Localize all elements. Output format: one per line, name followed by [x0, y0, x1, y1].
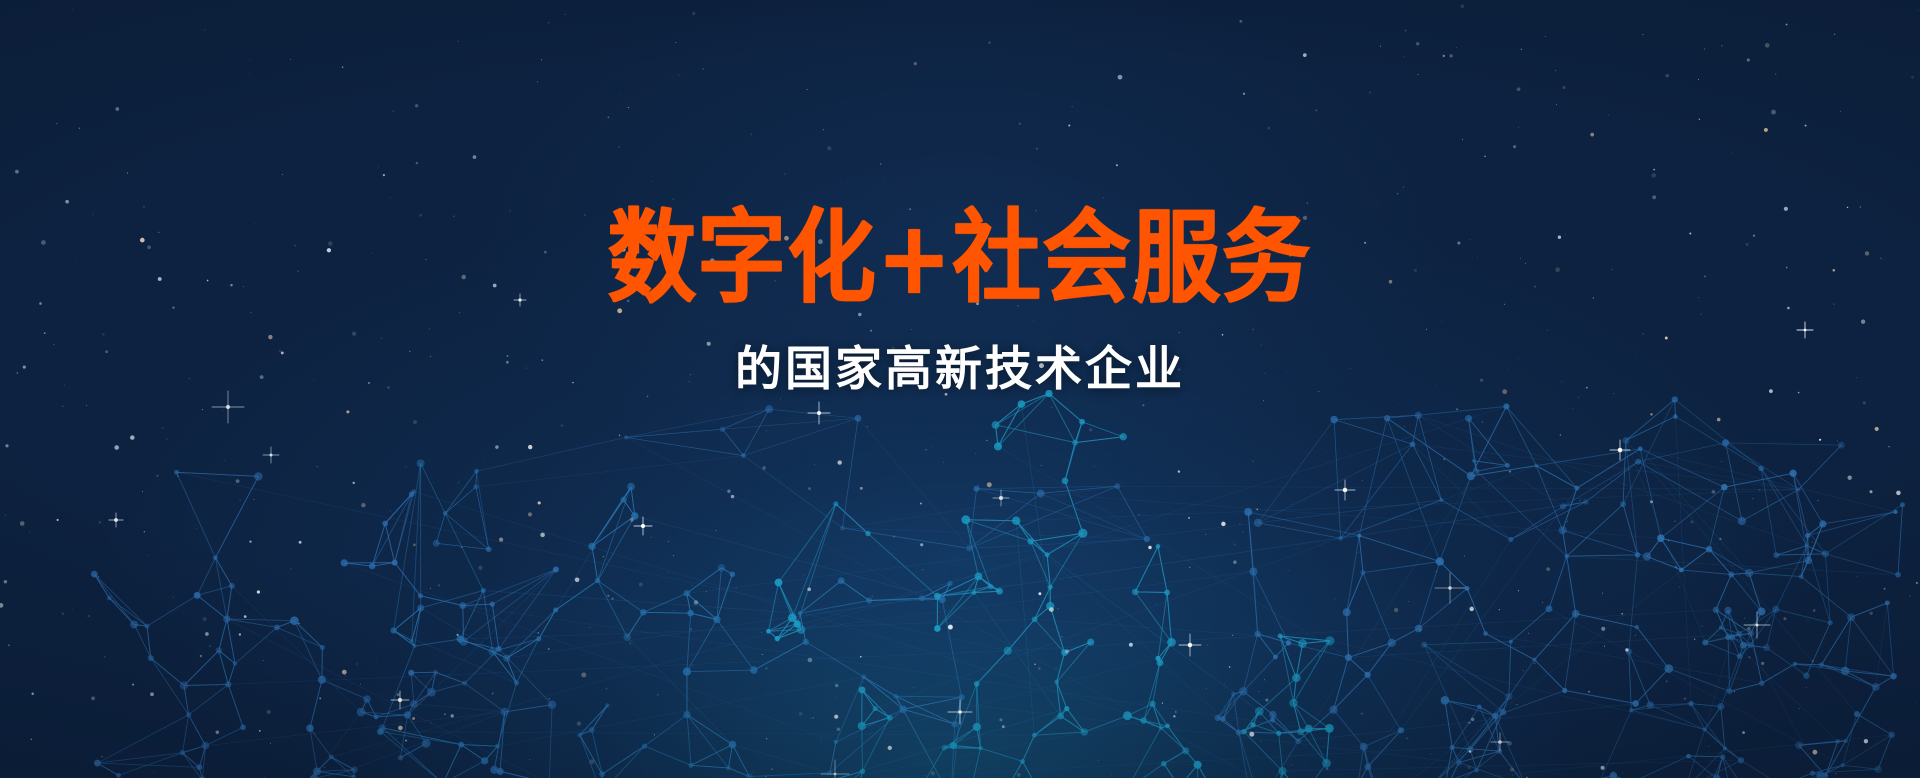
page-title: 数字化+社会服务 — [0, 208, 1920, 312]
hero-banner: 数字化+社会服务 的国家高新技术企业 — [0, 0, 1920, 778]
hero-text-block: 数字化+社会服务 的国家高新技术企业 — [0, 208, 1920, 399]
page-subtitle: 的国家高新技术企业 — [0, 330, 1920, 399]
